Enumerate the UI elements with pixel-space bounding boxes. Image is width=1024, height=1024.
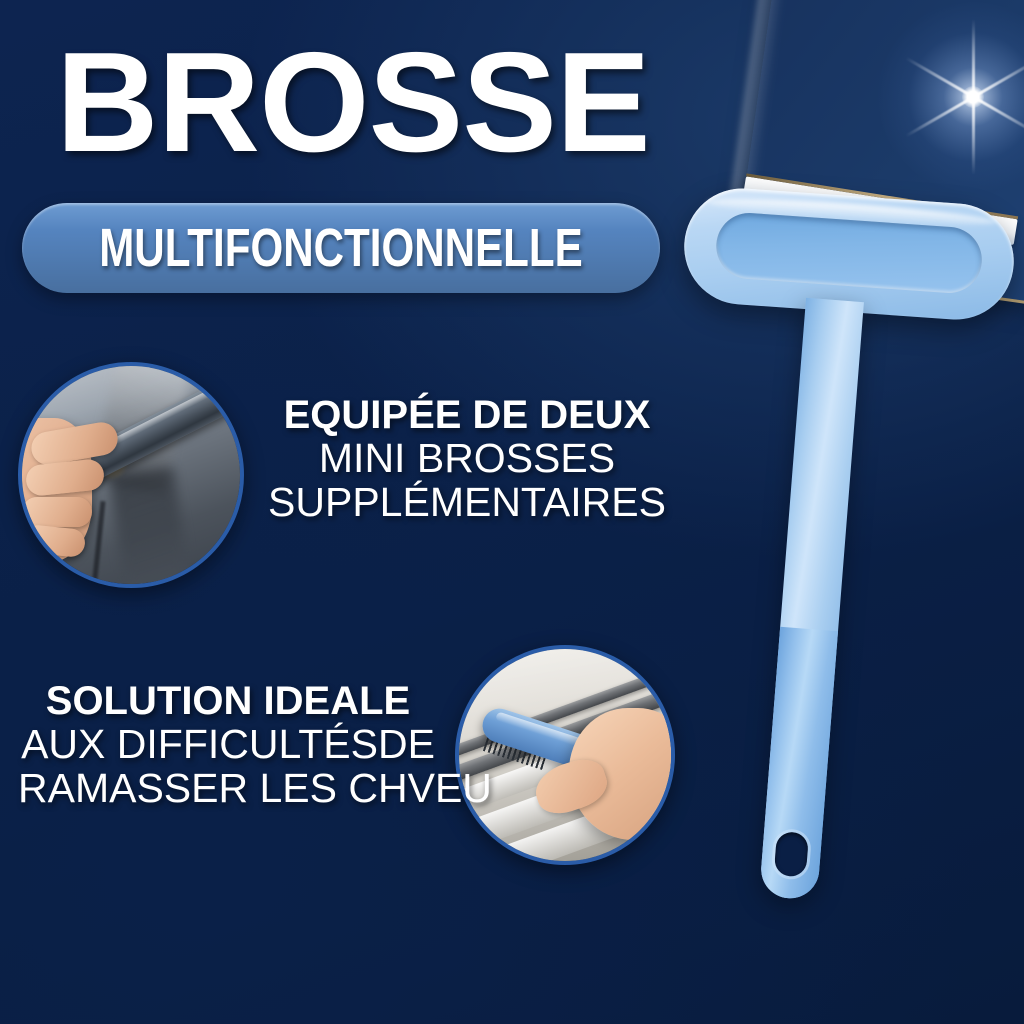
finger [22,497,92,528]
product-handle [759,298,864,901]
feature-2-line-1: SOLUTION IDEALE [18,680,438,723]
subtitle-pill-label: MULTIFONCTIONNELLE [99,217,583,279]
product-ad-poster: BROSSE MULTIFONCTIONNELLE EQUIPÉE DE DEU… [0,0,1024,1024]
feature-2-photo [455,645,675,865]
feature-1-line-1: EQUIPÉE DE DEUX [262,394,672,437]
feature-2-line-3: RAMASSER LES CHVEU [18,767,438,811]
photo-window-track [459,649,671,861]
feature-1-text: EQUIPÉE DE DEUX MINI BROSSES SUPPLÉMENTA… [262,394,672,525]
feature-1-line-3: SUPPLÉMENTAIRES [262,481,672,525]
feature-2-line-2: AUX DIFFICULTÉSDE [18,723,438,767]
photo-fabric-lint [22,366,240,584]
feature-1-photo [18,362,244,588]
feature-2-text: SOLUTION IDEALE AUX DIFFICULTÉSDE RAMASS… [18,680,438,811]
page-title: BROSSE [56,32,650,174]
subtitle-pill: MULTIFONCTIONNELLE [22,203,660,293]
feature-1-line-2: MINI BROSSES [262,437,672,481]
